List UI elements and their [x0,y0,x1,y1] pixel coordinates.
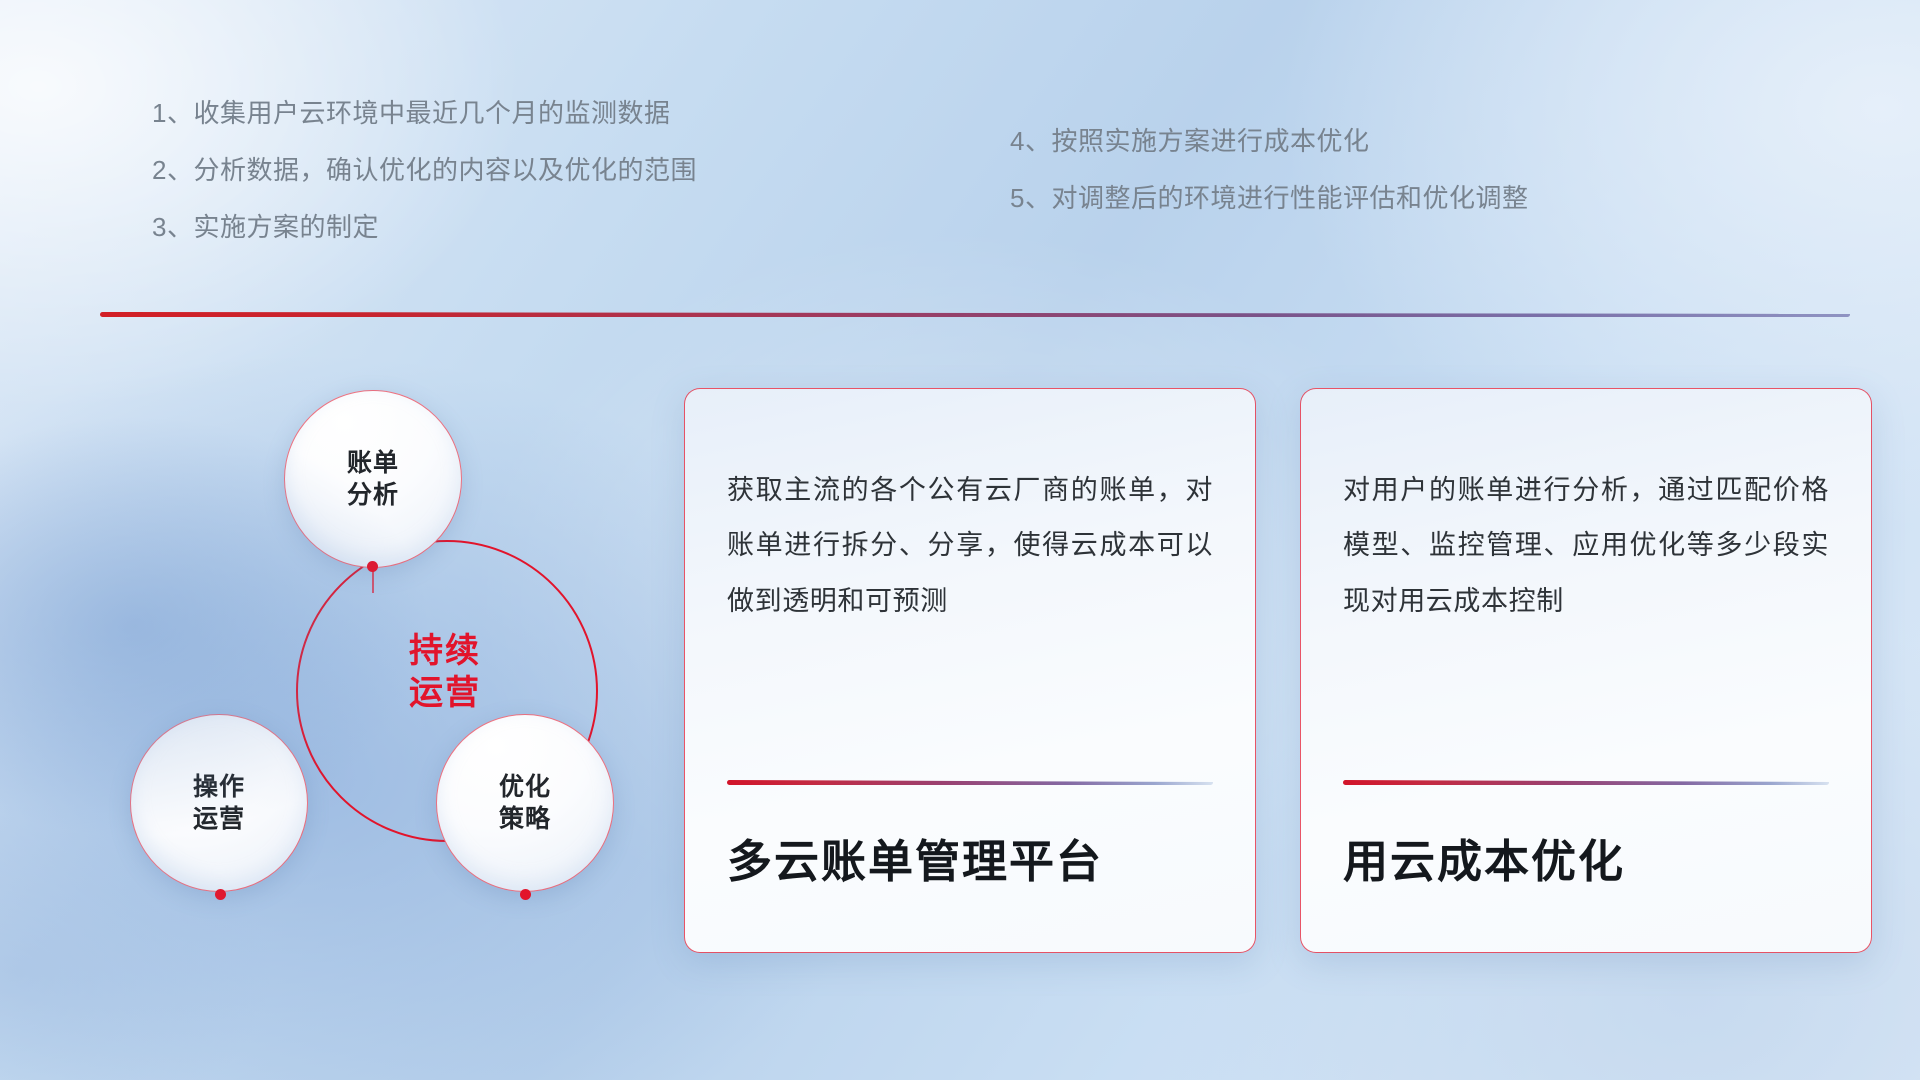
node-left-line-1: 操作 [193,771,245,803]
card-1-divider [727,780,1213,785]
connector-dot-top [367,561,378,572]
node-right-line-1: 优化 [499,771,551,803]
center-label-line-2: 运营 [296,672,594,714]
slide-canvas: 1、收集用户云环境中最近几个月的监测数据 2、分析数据，确认优化的内容以及优化的… [0,0,1920,1080]
feature-card-multicloud-billing[interactable]: 获取主流的各个公有云厂商的账单，对账单进行拆分、分享，使得云成本可以做到透明和可… [684,388,1256,953]
diagram-node-bill-analysis[interactable]: 账单 分析 [284,390,462,568]
card-2-divider [1343,780,1829,785]
feature-card-cost-optimization[interactable]: 对用户的账单进行分析，通过匹配价格模型、监控管理、应用优化等多少段实现对用云成本… [1300,388,1872,953]
section-divider [100,312,1850,317]
connector-dot-right [520,889,531,900]
diagram-node-optimization-strategy[interactable]: 优化 策略 [436,714,614,892]
process-step-3: 3、实施方案的制定 [152,214,697,240]
node-right-line-2: 策略 [499,803,551,835]
process-list-left: 1、收集用户云环境中最近几个月的监测数据 2、分析数据，确认优化的内容以及优化的… [152,100,697,271]
card-1-description: 获取主流的各个公有云厂商的账单，对账单进行拆分、分享，使得云成本可以做到透明和可… [727,463,1213,629]
card-2-title: 用云成本优化 [1343,825,1829,890]
diagram-node-operations[interactable]: 操作 运营 [130,714,308,892]
continuous-operation-diagram: 持续 运营 账单 分析 操作 运营 优化 策略 [96,352,616,932]
center-label-line-1: 持续 [296,630,594,672]
node-top-label: 账单 分析 [347,447,399,511]
connector-tick-top [372,571,374,593]
process-step-2: 2、分析数据，确认优化的内容以及优化的范围 [152,157,697,183]
card-1-title: 多云账单管理平台 [727,825,1213,890]
process-list-right: 4、按照实施方案进行成本优化 5、对调整后的环境进行性能评估和优化调整 [1010,128,1528,242]
node-top-line-1: 账单 [347,447,399,479]
process-step-4: 4、按照实施方案进行成本优化 [1010,128,1528,154]
connector-dot-left [215,889,226,900]
card-2-description: 对用户的账单进行分析，通过匹配价格模型、监控管理、应用优化等多少段实现对用云成本… [1343,463,1829,629]
node-left-line-2: 运营 [193,803,245,835]
process-step-5: 5、对调整后的环境进行性能评估和优化调整 [1010,185,1528,211]
node-right-label: 优化 策略 [499,771,551,835]
node-top-line-2: 分析 [347,479,399,511]
process-step-1: 1、收集用户云环境中最近几个月的监测数据 [152,100,697,126]
node-left-label: 操作 运营 [193,771,245,835]
diagram-center-label: 持续 运营 [296,630,594,714]
